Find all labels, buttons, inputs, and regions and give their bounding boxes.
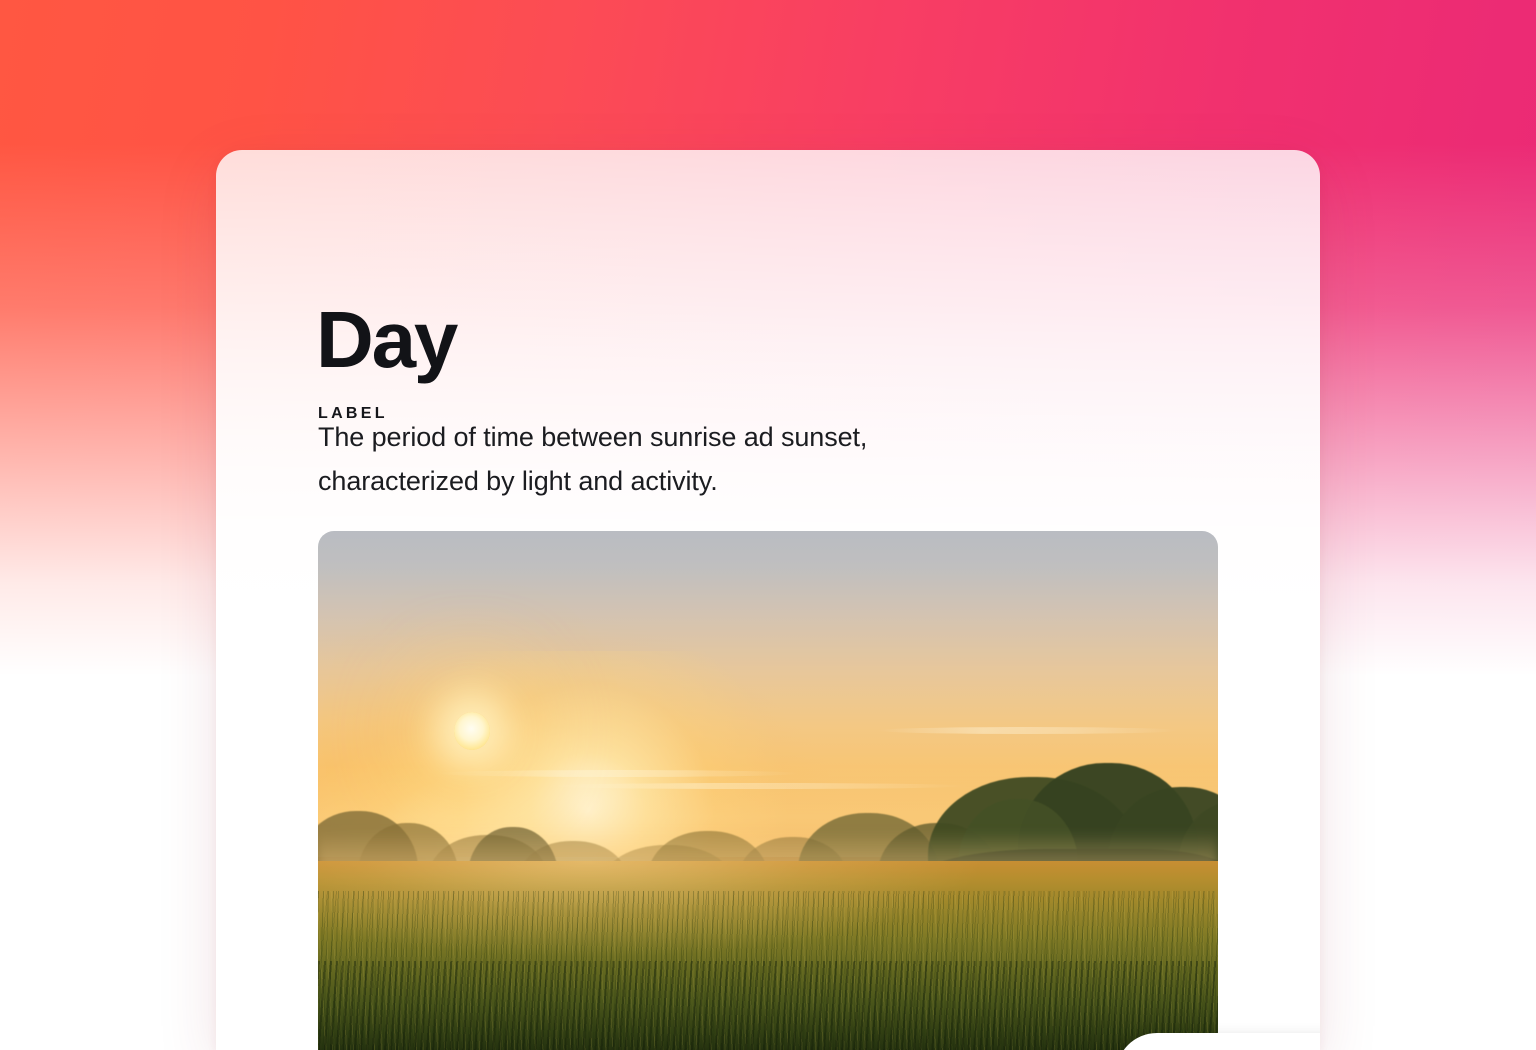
hero-image xyxy=(318,531,1218,1050)
image-vignette xyxy=(318,531,1218,1050)
page-title: Day xyxy=(316,300,456,380)
card-description: The period of time between sunrise ad su… xyxy=(318,415,1018,503)
content-card: LABEL Day The period of time between sun… xyxy=(216,150,1320,1050)
learn-more-button[interactable]: Learn more xyxy=(1116,1033,1320,1050)
